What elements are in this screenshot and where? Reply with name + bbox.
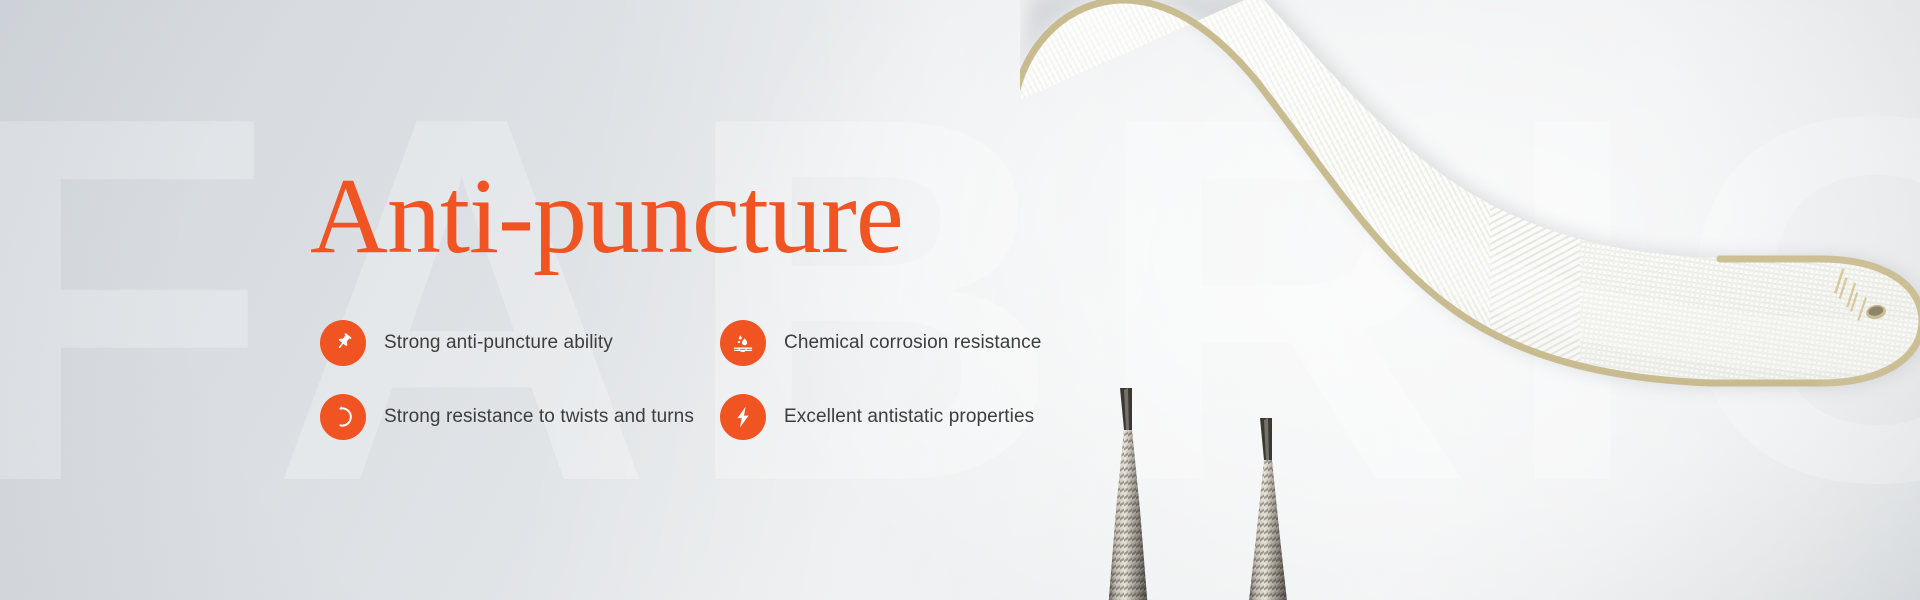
insole-print [1834,268,1867,320]
banner-headline: Anti-puncture [310,160,1078,273]
insole-hole [1865,303,1887,321]
product-image-anti-puncture-insole [1020,0,1920,600]
feature-label: Chemical corrosion resistance [784,332,1041,354]
feature-item: Chemical corrosion resistance [720,320,1120,366]
product-banner: FABRIC [0,0,1920,600]
insole-body [1020,0,1920,600]
feature-item: Strong anti-puncture ability [320,320,720,366]
lightning-bolt-icon [720,394,766,440]
chemical-droplet-icon [720,320,766,366]
rotation-arrow-icon [320,394,366,440]
feature-item: Excellent antistatic properties [720,394,1120,440]
pushpin-icon [320,320,366,366]
banner-content: Anti-puncture Strong anti-puncture abili… [318,0,1078,600]
feature-list: Strong anti-puncture ability [320,320,1078,440]
feature-label: Strong resistance to twists and turns [384,406,694,428]
feature-item: Strong resistance to twists and turns [320,394,720,440]
spiral-nail-right [1248,418,1288,600]
feature-label: Strong anti-puncture ability [384,332,613,354]
feature-label: Excellent antistatic properties [784,406,1034,428]
